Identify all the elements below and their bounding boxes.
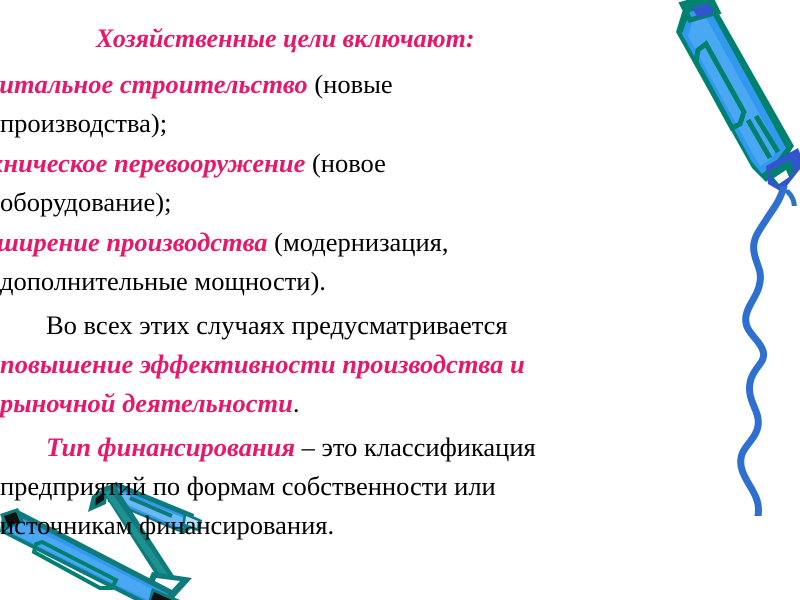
- slide-canvas: Хозяйственные цели включают: - капитальн…: [0, 0, 800, 600]
- bullet-capital-construction: - капитальное строительство (новые: [0, 65, 800, 104]
- paragraph-emphasis-text: рыночной деятельности: [0, 388, 293, 418]
- bullet-capital-construction-continuation: производства);: [0, 104, 800, 143]
- paragraph-financing-type: Тип финансирования – это классификация: [0, 428, 800, 467]
- bullet-rest: (новое: [305, 148, 386, 178]
- paragraph-all-cases-emphasis-line-1: повышение эффективности производства и: [0, 345, 800, 384]
- paragraph-all-cases-lead: Во всех этих случаях предусматривается: [0, 306, 800, 345]
- bullet-rest: (новые: [308, 69, 393, 99]
- continuation-text: источникам финансирования.: [0, 510, 334, 540]
- bullet-technical-reequipment: - техническое перевооружение (новое: [0, 144, 800, 183]
- slide-heading: Хозяйственные цели включают:: [0, 22, 800, 56]
- bullet-emphasis: расширение производства: [0, 227, 268, 257]
- paragraph-tail-text: .: [293, 388, 300, 418]
- heading-text: Хозяйственные цели включают:: [96, 24, 475, 53]
- paragraph-financing-continuation-line-2: источникам финансирования.: [0, 506, 800, 545]
- bullet-technical-reequipment-continuation: оборудование);: [0, 183, 800, 222]
- paragraph-financing-continuation-line-1: предприятий по формам собственности или: [0, 467, 800, 506]
- bullet-emphasis: капитальное строительство: [0, 69, 308, 99]
- paragraph-all-cases-emphasis-line-2: рыночной деятельности.: [0, 384, 800, 423]
- bullet-production-expansion-continuation: дополнительные мощности).: [0, 262, 800, 301]
- continuation-text: производства);: [0, 108, 167, 138]
- bullet-emphasis: техническое перевооружение: [0, 148, 305, 178]
- paragraph-emphasis-text: Тип финансирования: [46, 432, 295, 462]
- continuation-text: предприятий по формам собственности или: [0, 471, 496, 501]
- paragraph-rest-text: – это классификация: [295, 432, 536, 462]
- paragraph-lead-text: Во всех этих случаях предусматривается: [46, 310, 508, 340]
- continuation-text: оборудование);: [0, 187, 171, 217]
- continuation-text: дополнительные мощности).: [0, 266, 326, 296]
- bullet-rest: (модернизация,: [268, 227, 449, 257]
- slide-text-body: Хозяйственные цели включают: - капитальн…: [0, 0, 800, 545]
- bullet-production-expansion: - расширение производства (модернизация,: [0, 223, 800, 262]
- paragraph-emphasis-text: повышение эффективности производства и: [0, 349, 525, 379]
